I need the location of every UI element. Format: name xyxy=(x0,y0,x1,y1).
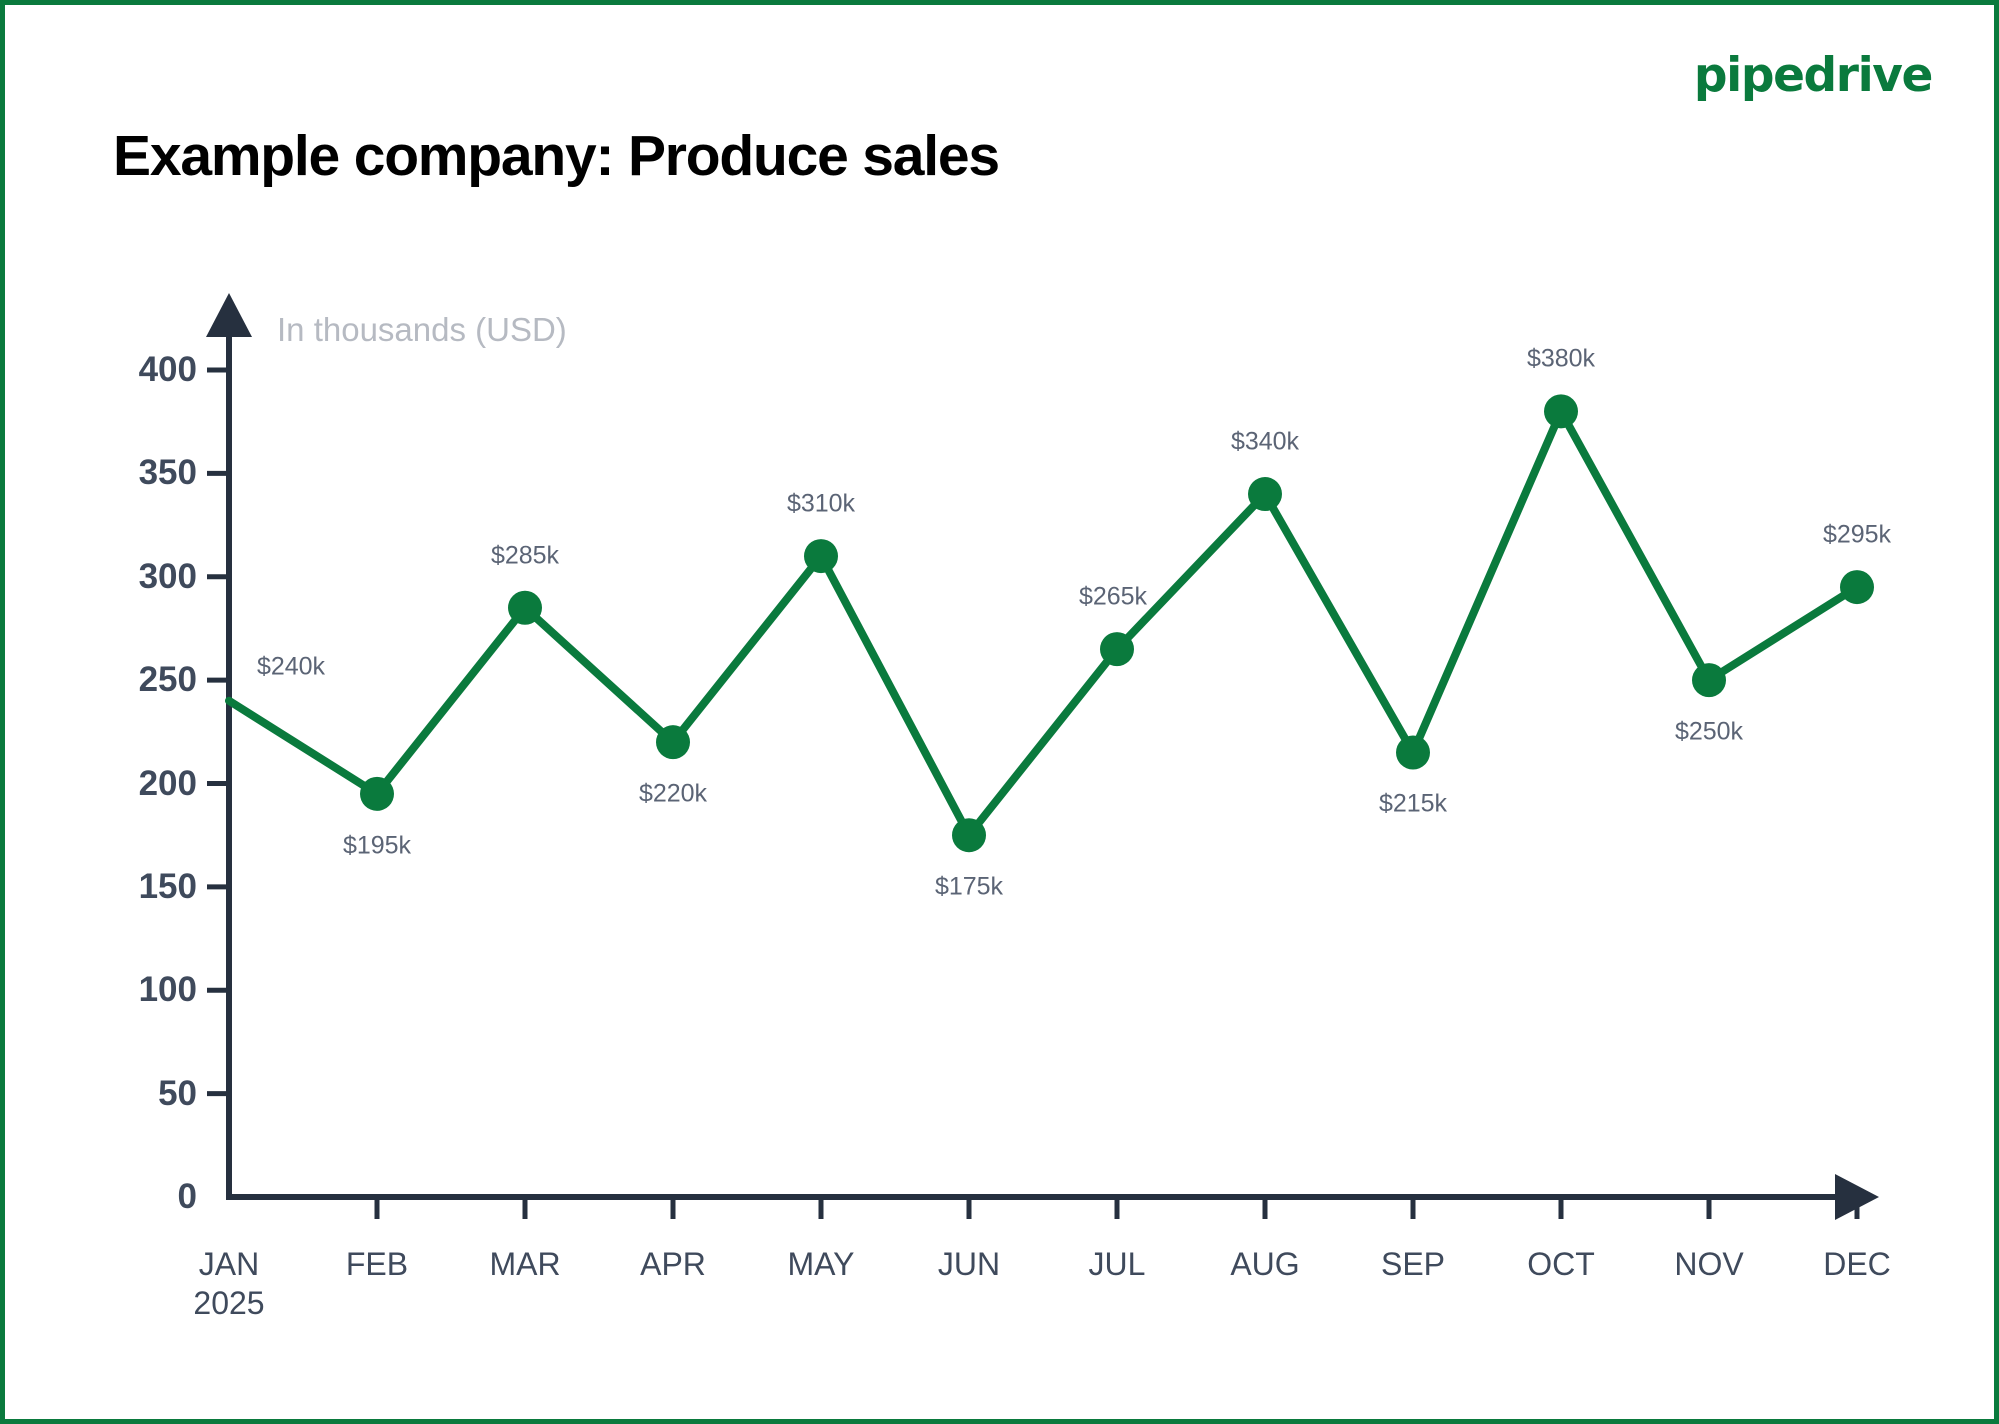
data-point-label: $250k xyxy=(1675,718,1743,747)
chart-unit-caption: In thousands (USD) xyxy=(277,311,567,349)
data-point-marker[interactable] xyxy=(508,591,542,625)
data-point-marker[interactable] xyxy=(1692,663,1726,697)
chart-canvas xyxy=(5,5,1999,1424)
series-line xyxy=(229,411,1857,835)
data-point-marker[interactable] xyxy=(656,725,690,759)
x-axis-tick-label: DEC xyxy=(1767,1245,1947,1284)
chart-page: pipedrive Example company: Produce sales… xyxy=(0,0,1999,1424)
data-point-marker[interactable] xyxy=(952,818,986,852)
y-axis-tick-label: 150 xyxy=(77,867,197,907)
chart-series xyxy=(229,394,1874,852)
data-point-label: $285k xyxy=(491,541,559,570)
data-point-marker[interactable] xyxy=(1248,477,1282,511)
data-point-label: $215k xyxy=(1379,790,1447,819)
data-point-label: $265k xyxy=(1079,583,1147,612)
data-point-marker[interactable] xyxy=(360,777,394,811)
data-point-label: $240k xyxy=(257,652,325,681)
data-point-label: $340k xyxy=(1231,428,1299,457)
data-point-label: $175k xyxy=(935,873,1003,902)
data-point-marker[interactable] xyxy=(1544,394,1578,428)
y-axis-tick-label: 300 xyxy=(77,557,197,597)
chart-axes xyxy=(206,293,1879,1220)
y-axis-tick-label: 400 xyxy=(77,350,197,390)
y-axis-tick-label: 200 xyxy=(77,764,197,804)
y-axis-tick-label: 100 xyxy=(77,970,197,1010)
data-point-marker[interactable] xyxy=(804,539,838,573)
data-point-label: $195k xyxy=(343,831,411,860)
data-point-label: $310k xyxy=(787,490,855,519)
data-point-marker[interactable] xyxy=(1840,570,1874,604)
y-axis-tick-label: 0 xyxy=(77,1177,197,1217)
data-point-label: $295k xyxy=(1823,521,1891,550)
line-chart: In thousands (USD) 050100150200250300350… xyxy=(5,5,1999,1424)
y-axis-tick-label: 250 xyxy=(77,660,197,700)
y-axis-tick-label: 50 xyxy=(77,1074,197,1114)
data-point-label: $220k xyxy=(639,780,707,809)
data-point-marker[interactable] xyxy=(1100,632,1134,666)
data-point-marker[interactable] xyxy=(1396,735,1430,769)
data-point-label: $380k xyxy=(1527,345,1595,374)
y-axis-arrow-icon xyxy=(206,293,252,337)
y-axis-tick-label: 350 xyxy=(77,453,197,493)
